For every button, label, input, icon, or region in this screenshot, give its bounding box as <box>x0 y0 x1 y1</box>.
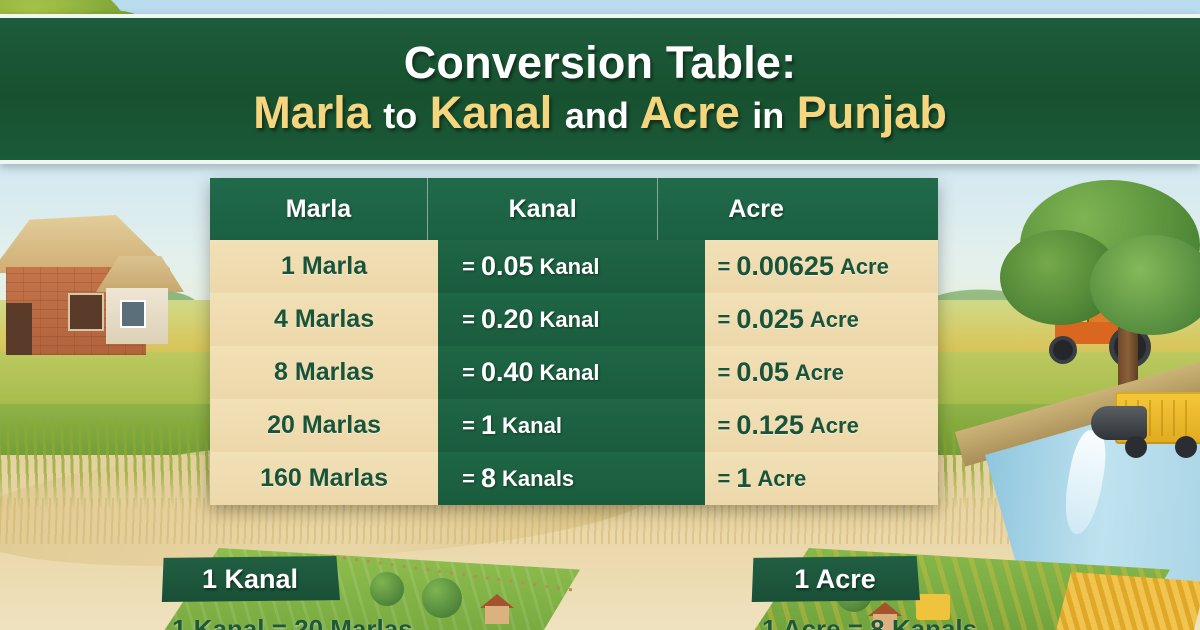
equals-sign: = <box>462 466 475 492</box>
kanal-value: 8 <box>481 463 496 494</box>
kanal-ribbon-label: 1 Kanal <box>160 556 340 602</box>
acre-unit: Acre <box>795 360 844 386</box>
column-header-marla: Marla <box>210 178 427 240</box>
acre-value: 0.125 <box>736 410 804 441</box>
acre-value: 1 <box>736 463 751 494</box>
title-word-and: and <box>565 95 629 136</box>
water-pump-icon <box>1095 392 1200 462</box>
equals-sign: = <box>717 360 730 386</box>
equals-sign: = <box>462 307 475 333</box>
cell-acre: = 1 Acre <box>705 452 938 505</box>
acre-value: 0.00625 <box>736 251 834 282</box>
ribbon-text: 1 Acre <box>794 564 876 595</box>
equals-sign: = <box>462 254 475 280</box>
table-row: 8 Marlas = 0.40 Kanal = 0.05 Acre <box>210 346 938 399</box>
pump-nozzle <box>1091 406 1147 440</box>
cell-marla: 4 Marlas <box>210 293 438 347</box>
title-word-punjab: Punjab <box>797 87 947 138</box>
tree-icon <box>422 578 462 618</box>
title-word-to: to <box>383 95 417 136</box>
cell-marla: 1 Marla <box>210 240 438 294</box>
equals-sign: = <box>717 466 730 492</box>
kanal-unit: Kanal <box>540 254 600 280</box>
acre-unit: Acre <box>757 466 806 492</box>
kanal-unit: Kanal <box>540 307 600 333</box>
kanal-value: 0.40 <box>481 357 534 388</box>
kanal-unit: Kanals <box>502 466 574 492</box>
cell-acre: = 0.00625 Acre <box>705 240 938 294</box>
column-header-acre: Acre <box>658 178 938 240</box>
cell-acre: = 0.025 Acre <box>705 293 938 347</box>
cell-marla: 20 Marlas <box>210 399 438 453</box>
cell-kanal: = 1 Kanal <box>438 399 705 453</box>
title-banner: Conversion Table: Marla to Kanal and Acr… <box>0 14 1200 164</box>
cell-kanal: = 0.40 Kanal <box>438 346 705 400</box>
acre-unit: Acre <box>810 307 859 333</box>
title-word-in: in <box>752 95 784 136</box>
door-icon <box>6 303 32 355</box>
pump-wheel <box>1125 436 1147 458</box>
house-icon <box>480 594 514 624</box>
title-word-acre: Acre <box>640 87 740 138</box>
table-row: 20 Marlas = 1 Kanal = 0.125 Acre <box>210 399 938 452</box>
title-word-kanal: Kanal <box>430 87 553 138</box>
kanal-value: 1 <box>481 410 496 441</box>
kanal-value: 0.20 <box>481 304 534 335</box>
kanal-value: 0.05 <box>481 251 534 282</box>
equals-sign: = <box>717 413 730 439</box>
house-wall <box>485 606 509 624</box>
equals-sign: = <box>717 307 730 333</box>
kanal-unit: Kanal <box>502 413 562 439</box>
equals-sign: = <box>717 254 730 280</box>
kanal-illustration-card: 1 Kanal 1 Kanal = 20 Marlas <box>150 520 620 630</box>
table-row: 160 Marlas = 8 Kanals = 1 Acre <box>210 452 938 505</box>
equals-sign: = <box>462 413 475 439</box>
column-header-kanal: Kanal <box>427 178 658 240</box>
infographic-canvas: Conversion Table: Marla to Kanal and Acr… <box>0 0 1200 630</box>
acre-caption: 1 Acre = 8 Kanals <box>762 614 977 630</box>
cell-acre: = 0.125 Acre <box>705 399 938 453</box>
window-icon <box>120 300 146 328</box>
cell-marla: 8 Marlas <box>210 346 438 400</box>
page-title-line1: Conversion Table: <box>404 40 797 86</box>
kanal-unit: Kanal <box>540 360 600 386</box>
acre-illustration-card: 1 Acre 1 Acre = 8 Kanals <box>740 520 1200 630</box>
crop-rows-illustration <box>1056 572 1200 630</box>
conversion-table: Marla Kanal Acre 1 Marla = 0.05 Kanal = … <box>210 178 938 505</box>
acre-ribbon-label: 1 Acre <box>750 556 920 602</box>
tree-icon <box>370 572 404 606</box>
table-body: 1 Marla = 0.05 Kanal = 0.00625 Acre 4 Ma… <box>210 240 938 505</box>
tree-canopy <box>1090 235 1200 335</box>
kanal-caption: 1 Kanal = 20 Marlas <box>172 614 413 630</box>
title-word-marla: Marla <box>253 87 371 138</box>
acre-value: 0.025 <box>736 304 804 335</box>
acre-value: 0.05 <box>736 357 789 388</box>
equals-sign: = <box>462 360 475 386</box>
cell-marla: 160 Marlas <box>210 452 438 505</box>
acre-unit: Acre <box>840 254 889 280</box>
table-row: 4 Marlas = 0.20 Kanal = 0.025 Acre <box>210 293 938 346</box>
cell-acre: = 0.05 Acre <box>705 346 938 400</box>
table-header-row: Marla Kanal Acre <box>210 178 938 240</box>
roof-icon <box>96 252 184 292</box>
cell-kanal: = 0.20 Kanal <box>438 293 705 347</box>
cell-kanal: = 8 Kanals <box>438 452 705 505</box>
acre-unit: Acre <box>810 413 859 439</box>
table-row: 1 Marla = 0.05 Kanal = 0.00625 Acre <box>210 240 938 293</box>
ribbon-text: 1 Kanal <box>202 564 298 595</box>
pump-wheel <box>1175 436 1197 458</box>
page-title-line2: Marla to Kanal and Acre in Punjab <box>253 89 947 138</box>
secondary-house-icon <box>96 252 184 344</box>
cell-kanal: = 0.05 Kanal <box>438 240 705 294</box>
